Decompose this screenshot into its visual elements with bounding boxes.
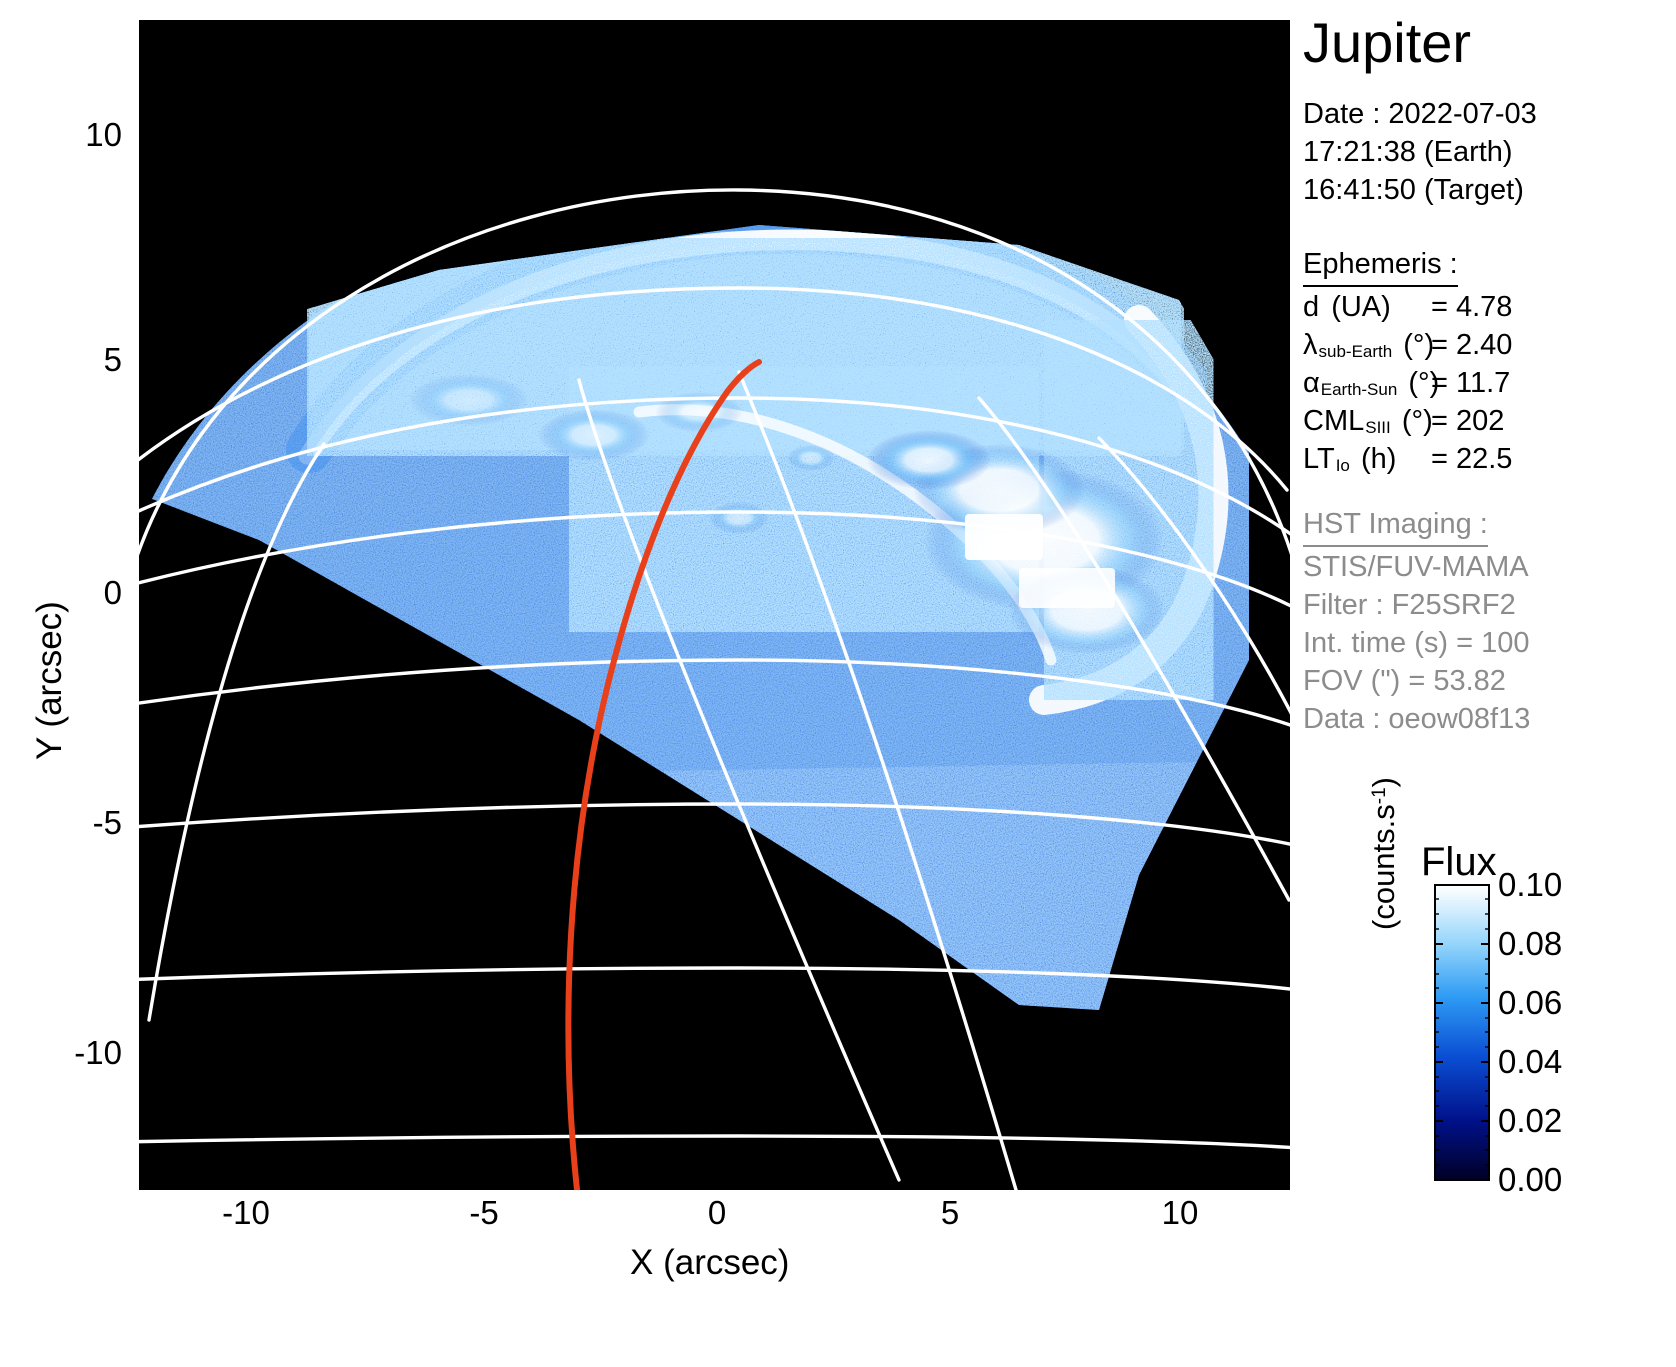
x-tick-0: 0 — [657, 1196, 777, 1229]
ephemeris-value: = 202 — [1431, 402, 1504, 440]
ephemeris-value: = 22.5 — [1431, 440, 1512, 478]
ephemeris-value: = 4.78 — [1431, 288, 1512, 326]
colorbar-unit-label: (counts.s-1) — [1366, 777, 1402, 930]
ephemeris-heading: Ephemeris : — [1303, 245, 1458, 287]
x-tick-5: 5 — [890, 1196, 1010, 1229]
colorbar-unit-paren: ) — [1366, 777, 1401, 787]
y-tick-minus10: -10 — [44, 1036, 122, 1069]
ephemeris-symbol: d — [1303, 288, 1319, 326]
hst-filter: Filter : F25SRF2 — [1303, 586, 1530, 624]
ephemeris-row-phase-angle: αEarth-Sun (°) = 11.7 — [1303, 364, 1512, 402]
hst-imaging-heading: HST Imaging : — [1303, 505, 1488, 547]
ephemeris-symbol: α — [1303, 364, 1320, 402]
aurora-image-plot — [139, 20, 1290, 1190]
target-title: Jupiter — [1303, 13, 1471, 73]
hst-fov: FOV (") = 53.82 — [1303, 662, 1530, 700]
ephemeris-value: = 11.7 — [1431, 364, 1510, 402]
ephemeris-block: d (UA) = 4.78 λsub-Earth (°) = 2.40 αEar… — [1303, 288, 1512, 478]
ephemeris-subscript — [1319, 304, 1323, 323]
ephemeris-subscript: SIII — [1364, 418, 1394, 437]
ephemeris-subscript: Earth-Sun — [1320, 380, 1401, 399]
x-tick-10: 10 — [1120, 1196, 1240, 1229]
colorbar-unit-text: (counts.s — [1366, 804, 1401, 930]
observation-time-earth: 17:21:38 (Earth) — [1303, 133, 1537, 171]
ephemeris-row-io-local-time: LTIo (h) = 22.5 — [1303, 440, 1512, 478]
ephemeris-row-sub-earth-lat: λsub-Earth (°) = 2.40 — [1303, 326, 1512, 364]
y-tick-5: 5 — [44, 343, 122, 376]
ephemeris-unit: (UA) — [1331, 291, 1391, 323]
colorbar-ticks — [1434, 884, 1490, 1181]
ephemeris-row-distance: d (UA) = 4.78 — [1303, 288, 1512, 326]
observation-time-target: 16:41:50 (Target) — [1303, 171, 1537, 209]
ephemeris-symbol: LT — [1303, 440, 1335, 478]
colorbar-unit-exponent: -1 — [1369, 787, 1390, 804]
ephemeris-symbol: λ — [1303, 326, 1318, 364]
hst-instrument: STIS/FUV-MAMA — [1303, 548, 1530, 586]
ephemeris-subscript: Io — [1335, 456, 1353, 475]
ephemeris-unit: (h) — [1361, 443, 1396, 475]
x-tick-minus5: -5 — [424, 1196, 544, 1229]
colorbar-tick-006: 0.06 — [1498, 986, 1562, 1019]
observation-date: Date : 2022-07-03 — [1303, 95, 1537, 133]
colorbar-tick-002: 0.02 — [1498, 1104, 1562, 1137]
colorbar-tick-004: 0.04 — [1498, 1045, 1562, 1078]
x-tick-minus10: -10 — [186, 1196, 306, 1229]
y-axis-title: Y (arcsec) — [30, 601, 70, 760]
ephemeris-row-cml: CMLSIII (°) = 202 — [1303, 402, 1512, 440]
ephemeris-unit: (°) — [1403, 329, 1434, 361]
colorbar-tick-008: 0.08 — [1498, 927, 1562, 960]
colorbar-tick-000: 0.00 — [1498, 1163, 1562, 1196]
hst-imaging-block: STIS/FUV-MAMA Filter : F25SRF2 Int. time… — [1303, 548, 1530, 738]
hst-dataset-id: Data : oeow08f13 — [1303, 700, 1530, 738]
ephemeris-value: = 2.40 — [1431, 326, 1512, 364]
observation-date-block: Date : 2022-07-03 17:21:38 (Earth) 16:41… — [1303, 95, 1537, 209]
hst-integration-time: Int. time (s) = 100 — [1303, 624, 1530, 662]
aurora-image-canvas — [139, 20, 1290, 1190]
y-tick-minus5: -5 — [44, 806, 122, 839]
colorbar-title: Flux — [1421, 840, 1497, 885]
ephemeris-symbol: CML — [1303, 402, 1364, 440]
colorbar-tick-010: 0.10 — [1498, 868, 1562, 901]
ephemeris-subscript: sub-Earth — [1318, 342, 1396, 361]
ephemeris-unit: (°) — [1402, 405, 1433, 437]
y-tick-10: 10 — [44, 118, 122, 151]
x-axis-title: X (arcsec) — [630, 1243, 789, 1283]
